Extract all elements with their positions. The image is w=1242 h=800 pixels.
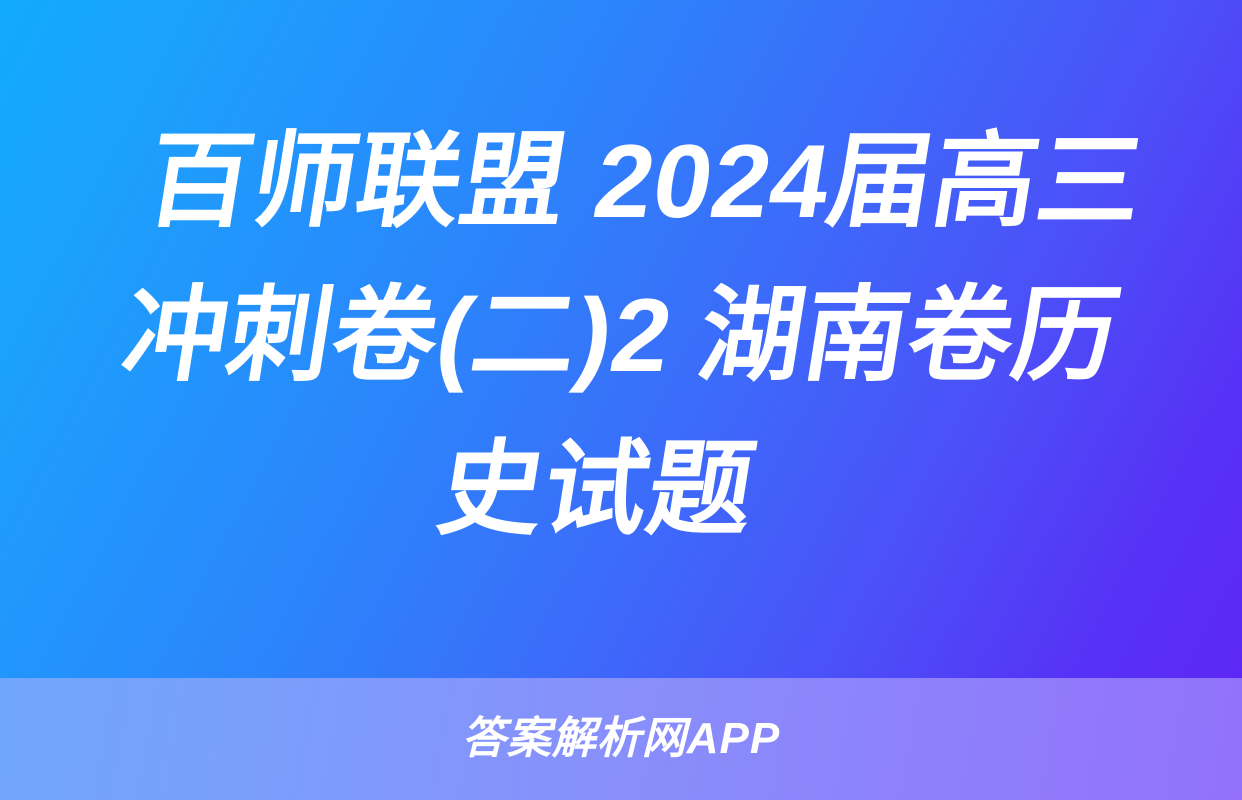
watermark-brand-text: 答案解析网APP bbox=[462, 717, 780, 761]
hero-title-block: 百师联盟 2024届高三冲刺卷(二)2 湖南卷历史试题 bbox=[76, 106, 1166, 572]
page-title: 百师联盟 2024届高三冲刺卷(二)2 湖南卷历史试题 bbox=[43, 106, 1198, 568]
watermark-band: 答案解析网APP bbox=[0, 678, 1242, 800]
poster-canvas: 百师联盟 2024届高三冲刺卷(二)2 湖南卷历史试题 答案解析网APP bbox=[0, 0, 1242, 800]
hero-gradient-banner: 百师联盟 2024届高三冲刺卷(二)2 湖南卷历史试题 bbox=[0, 0, 1242, 678]
